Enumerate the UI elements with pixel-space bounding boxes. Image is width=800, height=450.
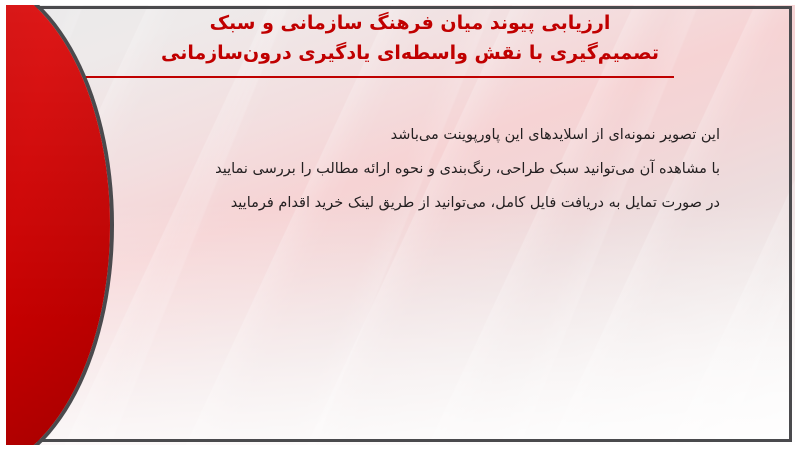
title-underline: [86, 76, 674, 78]
presentation-slide: ارزیابی پیوند میان فرهنگ سازمانی و سبک ت…: [0, 0, 800, 450]
body-line-2: با مشاهده آن می‌توانید سبک طراحی، رنگ‌بن…: [80, 152, 720, 186]
title-line-1: ارزیابی پیوند میان فرهنگ سازمانی و سبک: [60, 8, 760, 38]
body-line-1: این تصویر نمونه‌ای از اسلایدهای این پاور…: [80, 118, 720, 152]
bottom-page-margin: [0, 445, 800, 450]
title-line-2: تصمیم‌گیری با نقش واسطه‌ای یادگیری درون‌…: [60, 38, 760, 68]
slide-title: ارزیابی پیوند میان فرهنگ سازمانی و سبک ت…: [60, 8, 760, 68]
slide-body-text: این تصویر نمونه‌ای از اسلایدهای این پاور…: [80, 118, 720, 220]
left-page-margin: [0, 0, 6, 450]
top-page-margin: [0, 0, 800, 5]
body-line-3: در صورت تمایل به دریافت فایل کامل، می‌تو…: [80, 186, 720, 220]
right-page-margin: [795, 0, 800, 450]
